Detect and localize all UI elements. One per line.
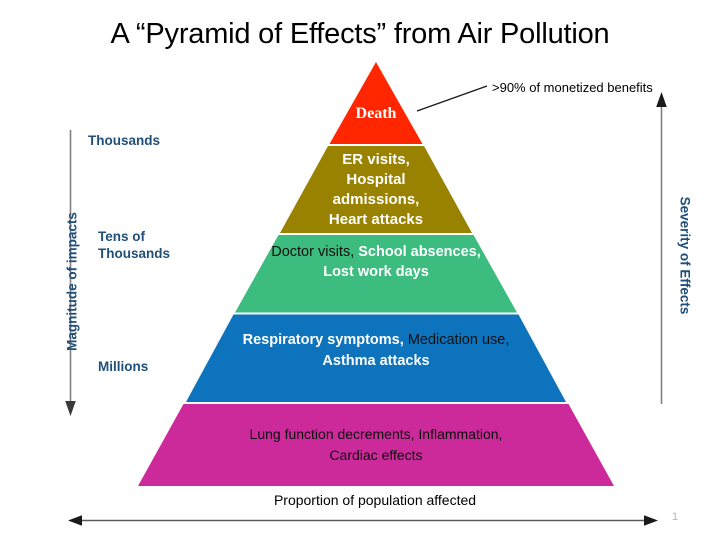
magnitude-label-tens-line-2: Thousands (98, 246, 218, 263)
proportion-axis-arrowhead-left (68, 515, 82, 525)
proportion-axis-arrowhead-right (644, 515, 658, 525)
magnitude-label-tens-of-thousands: Tens of Thousands (98, 229, 218, 263)
pyramid-layer-death (330, 62, 423, 144)
pyramid-layer-doctor-visits (235, 235, 517, 313)
callout-leader-line (417, 86, 487, 111)
pyramid-layer-lung-function (138, 404, 614, 486)
page-number: 1 (672, 511, 700, 523)
magnitude-label-millions: Millions (98, 359, 218, 376)
magnitude-label-thousands: Thousands (88, 133, 208, 150)
axis-label-proportion-of-population: Proportion of population affected (140, 492, 610, 508)
magnitude-label-tens-line-1: Tens of (98, 229, 218, 246)
magnitude-axis-arrowhead-down (65, 401, 76, 416)
axis-label-severity-of-effects: Severity of Effects (678, 146, 693, 366)
magnitude-label-thousands-text: Thousands (88, 133, 160, 148)
magnitude-label-millions-text: Millions (98, 359, 148, 374)
callout-monetized-benefits: >90% of monetized benefits (492, 79, 662, 97)
pyramid-layer-er-visits (280, 146, 472, 233)
slide-canvas: A “Pyramid of Effects” from Air Pollutio… (0, 0, 720, 540)
axis-label-magnitude-of-impacts: Magnitude of impacts (65, 172, 80, 392)
pyramid-layer-respiratory (186, 315, 566, 403)
